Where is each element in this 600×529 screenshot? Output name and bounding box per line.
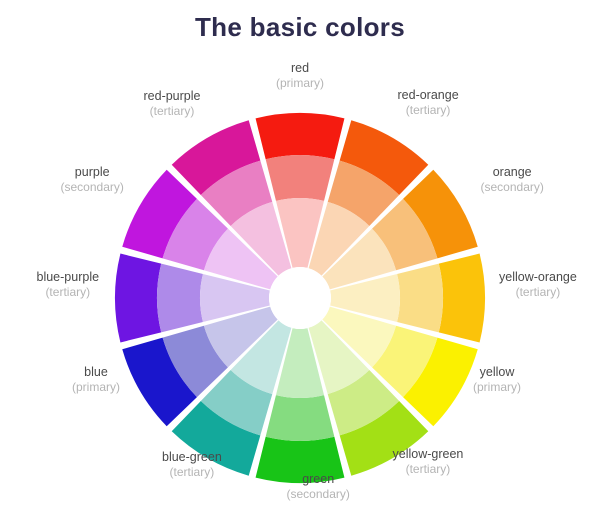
wheel-label-name-blue-green: blue-green [162, 450, 222, 466]
wheel-label-kind-red-orange: (tertiary) [398, 103, 459, 118]
wheel-label-name-red-purple: red-purple [144, 89, 201, 105]
wheel-label-name-blue: blue [72, 365, 120, 381]
wheel-label-orange: orange(secondary) [481, 165, 544, 196]
wheel-sector-green-mid-ring[interactable] [266, 395, 335, 441]
wheel-label-red: red(primary) [276, 61, 324, 92]
wheel-label-kind-yellow-orange: (tertiary) [499, 285, 577, 300]
wheel-label-blue-green: blue-green(tertiary) [162, 450, 222, 481]
wheel-label-blue: blue(primary) [72, 365, 120, 396]
wheel-label-name-yellow-orange: yellow-orange [499, 270, 577, 286]
wheel-label-name-red-orange: red-orange [398, 88, 459, 104]
wheel-label-name-orange: orange [481, 165, 544, 181]
wheel-sector-yellow-orange-mid-ring[interactable] [397, 264, 443, 333]
wheel-label-red-orange: red-orange(tertiary) [398, 88, 459, 119]
wheel-center-hub [269, 267, 331, 329]
wheel-label-blue-purple: blue-purple(tertiary) [37, 270, 100, 301]
wheel-label-kind-yellow: (primary) [473, 380, 521, 395]
wheel-sector-blue-purple-outer-ring[interactable] [115, 254, 161, 343]
wheel-label-yellow-orange: yellow-orange(tertiary) [499, 270, 577, 301]
wheel-sector-red-outer-ring[interactable] [256, 113, 345, 159]
wheel-label-name-yellow: yellow [473, 365, 521, 381]
wheel-label-kind-green: (secondary) [287, 487, 350, 502]
wheel-label-kind-orange: (secondary) [481, 180, 544, 195]
wheel-label-kind-yellow-green: (tertiary) [393, 462, 464, 477]
wheel-label-kind-purple: (secondary) [61, 180, 124, 195]
wheel-label-green: green(secondary) [287, 472, 350, 503]
wheel-sector-yellow-orange-outer-ring[interactable] [439, 254, 485, 343]
wheel-label-name-blue-purple: blue-purple [37, 270, 100, 286]
wheel-label-red-purple: red-purple(tertiary) [144, 89, 201, 120]
wheel-label-yellow: yellow(primary) [473, 365, 521, 396]
wheel-label-name-green: green [287, 472, 350, 488]
wheel-label-name-purple: purple [61, 165, 124, 181]
wheel-label-kind-red: (primary) [276, 76, 324, 91]
wheel-label-name-yellow-green: yellow-green [393, 447, 464, 463]
wheel-label-purple: purple(secondary) [61, 165, 124, 196]
wheel-label-name-red: red [276, 61, 324, 77]
wheel-label-yellow-green: yellow-green(tertiary) [393, 447, 464, 478]
wheel-label-kind-blue-green: (tertiary) [162, 465, 222, 480]
wheel-label-kind-red-purple: (tertiary) [144, 104, 201, 119]
color-wheel-diagram: red(primary)red-orange(tertiary)orange(s… [0, 0, 600, 529]
wheel-sector-red-mid-ring[interactable] [266, 155, 335, 201]
wheel-label-kind-blue-purple: (tertiary) [37, 285, 100, 300]
wheel-sector-blue-purple-mid-ring[interactable] [157, 264, 203, 333]
wheel-label-kind-blue: (primary) [72, 380, 120, 395]
